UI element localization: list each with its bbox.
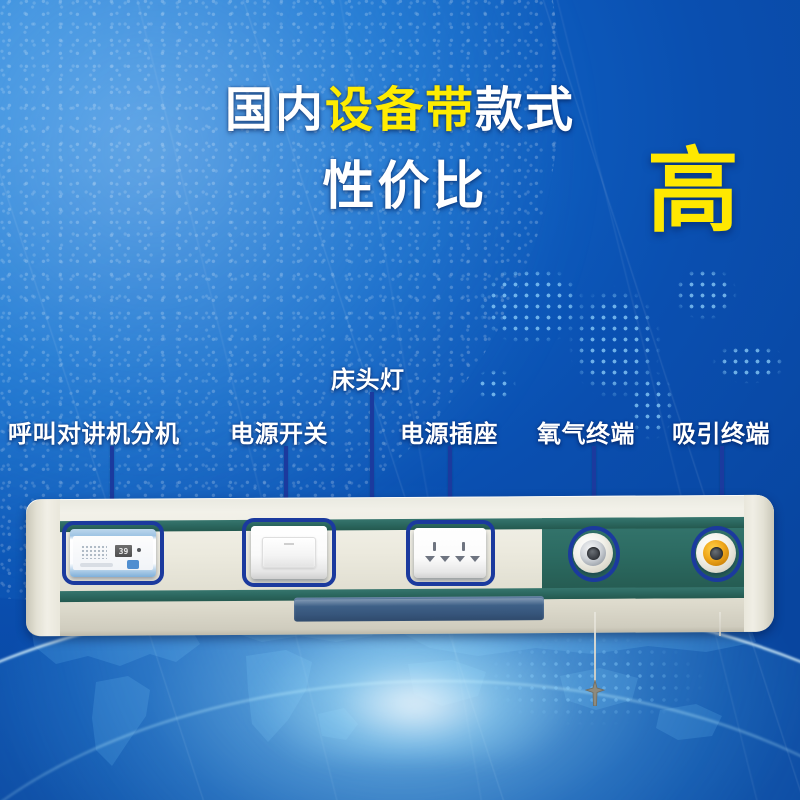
panel-end-cap-right (744, 495, 774, 632)
socket-prong-2 (440, 556, 450, 562)
oxygen-terminal-port (587, 547, 600, 560)
rail-gloss (294, 598, 544, 607)
callout-label-oxygen-terminal: 氧气终端 (537, 414, 635, 449)
poster-canvas: 国内设备带款式 性价比 高 呼叫对讲机分机 电源开关 床头灯 电源插座 氧气终端… (0, 0, 800, 800)
intercom-indicator-led (137, 548, 141, 552)
panel-end-cap-left (26, 499, 60, 636)
headline-accent-high: 高 (647, 146, 739, 238)
suction-terminal-port (710, 547, 723, 560)
suction-terminal-ring (703, 540, 729, 566)
switch-rocker[interactable] (262, 537, 316, 568)
panel-slider-rail[interactable] (294, 596, 544, 622)
device-oxygen-terminal[interactable] (573, 533, 613, 573)
socket-prong-3 (455, 556, 465, 562)
oxygen-terminal-ring (580, 540, 606, 566)
socket-outlet-pair (414, 542, 486, 566)
socket-prong-4 (470, 556, 480, 562)
device-suction-terminal[interactable] (696, 533, 736, 573)
switch-tick-mark (284, 543, 294, 545)
callout-label-bedside-lamp: 床头灯 (331, 360, 405, 395)
intercom-faceplate: 39 (73, 536, 153, 570)
socket-pin-slot-left (433, 542, 436, 551)
intercom-display: 39 (115, 545, 132, 557)
pull-cord-short (719, 612, 721, 636)
callout-label-power-switch: 电源开关 (230, 414, 328, 449)
callout-label-suction-terminal: 吸引终端 (672, 414, 770, 449)
callout-label-power-socket: 电源插座 (400, 414, 498, 449)
socket-prong-1 (425, 556, 435, 562)
intercom-label-strip (80, 563, 113, 567)
speaker-grille-icon (81, 545, 107, 559)
device-power-socket[interactable] (414, 528, 486, 578)
callout-label-intercom-extension: 呼叫对讲机分机 (8, 414, 180, 449)
device-power-switch[interactable] (251, 526, 327, 579)
pull-cord-handle[interactable] (585, 680, 605, 706)
intercom-call-button[interactable] (127, 560, 139, 569)
socket-pin-slot-right (462, 542, 465, 551)
device-intercom-extension[interactable]: 39 (70, 529, 156, 577)
